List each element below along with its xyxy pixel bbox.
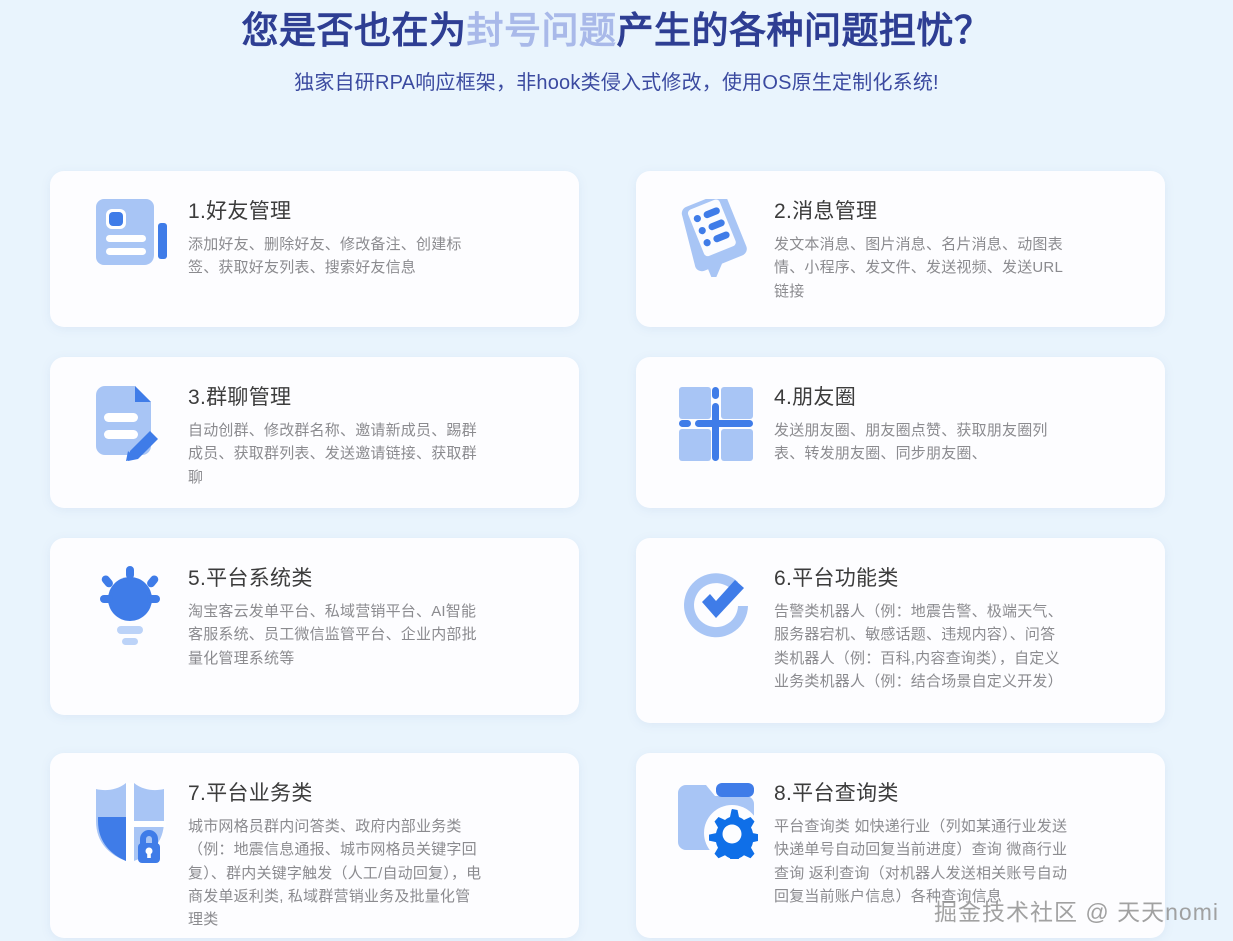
card-title: 6.平台功能类: [774, 562, 1145, 592]
card-body: 1.好友管理 添加好友、删除好友、修改备注、创建标签、获取好友列表、搜索好友信息: [188, 193, 559, 280]
card-body: 3.群聊管理 自动创群、修改群名称、邀请新成员、踢群成员、获取群列表、发送邀请链…: [188, 379, 559, 489]
page-header: 您是否也在为封号问题产生的各种问题担忧？ 独家自研RPA响应框架，非hook类侵…: [0, 0, 1233, 95]
card-description: 添加好友、删除好友、修改备注、创建标签、获取好友列表、搜索好友信息: [188, 233, 483, 280]
page-subtitle: 独家自研RPA响应框架，非hook类侵入式修改，使用OS原生定制化系统!: [0, 66, 1233, 95]
feature-card-friend-management[interactable]: 1.好友管理 添加好友、删除好友、修改备注、创建标签、获取好友列表、搜索好友信息: [50, 171, 579, 327]
watermark: 掘金技术社区 @ 天天nomi: [934, 893, 1219, 927]
card-description: 发文本消息、图片消息、名片消息、动图表情、小程序、发文件、发送视频、发送URL链…: [774, 233, 1069, 303]
card-title: 2.消息管理: [774, 195, 1145, 225]
card-body: 8.平台查询类 平台查询类 如快递行业（列如某通行业发送快递单号自动回复当前进度…: [774, 775, 1145, 908]
document-edit-icon: [72, 379, 188, 463]
grid-cross-icon: [658, 379, 774, 463]
page-title-highlight: 封号问题: [467, 10, 617, 51]
message-list-icon: [658, 193, 774, 277]
card-title: 7.平台业务类: [188, 777, 559, 807]
card-body: 5.平台系统类 淘宝客云发单平台、私域营销平台、AI智能客服系统、员工微信监管平…: [188, 560, 559, 670]
card-title: 8.平台查询类: [774, 777, 1145, 807]
feature-card-moments[interactable]: 4.朋友圈 发送朋友圈、朋友圈点赞、获取朋友圈列表、转发朋友圈、同步朋友圈、: [636, 357, 1165, 508]
card-description: 淘宝客云发单平台、私域营销平台、AI智能客服系统、员工微信监管平台、企业内部批量…: [188, 600, 483, 670]
card-body: 6.平台功能类 告警类机器人（例：地震告警、极端天气、服务器宕机、敏感话题、违规…: [774, 560, 1145, 693]
lightbulb-icon: [72, 560, 188, 646]
feature-card-message-management[interactable]: 2.消息管理 发文本消息、图片消息、名片消息、动图表情、小程序、发文件、发送视频…: [636, 171, 1165, 327]
feature-card-group-management[interactable]: 3.群聊管理 自动创群、修改群名称、邀请新成员、踢群成员、获取群列表、发送邀请链…: [50, 357, 579, 508]
check-circle-icon: [658, 560, 774, 646]
card-description: 发送朋友圈、朋友圈点赞、获取朋友圈列表、转发朋友圈、同步朋友圈、: [774, 419, 1069, 466]
card-body: 2.消息管理 发文本消息、图片消息、名片消息、动图表情、小程序、发文件、发送视频…: [774, 193, 1145, 303]
card-title: 5.平台系统类: [188, 562, 559, 592]
feature-card-platform-system[interactable]: 5.平台系统类 淘宝客云发单平台、私域营销平台、AI智能客服系统、员工微信监管平…: [50, 538, 579, 715]
card-description: 告警类机器人（例：地震告警、极端天气、服务器宕机、敏感话题、违规内容）、问答类机…: [774, 600, 1069, 693]
feature-card-platform-business[interactable]: 7.平台业务类 城市网格员群内问答类、政府内部业务类（例：地震信息通报、城市网格…: [50, 753, 579, 938]
folder-gear-icon: [658, 775, 774, 859]
page-title-part1: 您是否也在为: [242, 10, 467, 51]
card-description: 自动创群、修改群名称、邀请新成员、踢群成员、获取群列表、发送邀请链接、获取群聊: [188, 419, 483, 489]
card-title: 3.群聊管理: [188, 381, 559, 411]
feature-card-grid: 1.好友管理 添加好友、删除好友、修改备注、创建标签、获取好友列表、搜索好友信息: [50, 171, 1165, 938]
card-description: 城市网格员群内问答类、政府内部业务类（例：地震信息通报、城市网格员关键字回复）、…: [188, 815, 483, 931]
contact-card-icon: [72, 193, 188, 271]
feature-card-platform-function[interactable]: 6.平台功能类 告警类机器人（例：地震告警、极端天气、服务器宕机、敏感话题、违规…: [636, 538, 1165, 723]
page-title: 您是否也在为封号问题产生的各种问题担忧？: [0, 8, 1233, 54]
page-title-part2: 产生的各种问题担忧？: [617, 10, 992, 51]
shield-lock-icon: [72, 775, 188, 863]
card-title: 4.朋友圈: [774, 381, 1145, 411]
card-body: 4.朋友圈 发送朋友圈、朋友圈点赞、获取朋友圈列表、转发朋友圈、同步朋友圈、: [774, 379, 1145, 466]
card-title: 1.好友管理: [188, 195, 559, 225]
card-body: 7.平台业务类 城市网格员群内问答类、政府内部业务类（例：地震信息通报、城市网格…: [188, 775, 559, 931]
